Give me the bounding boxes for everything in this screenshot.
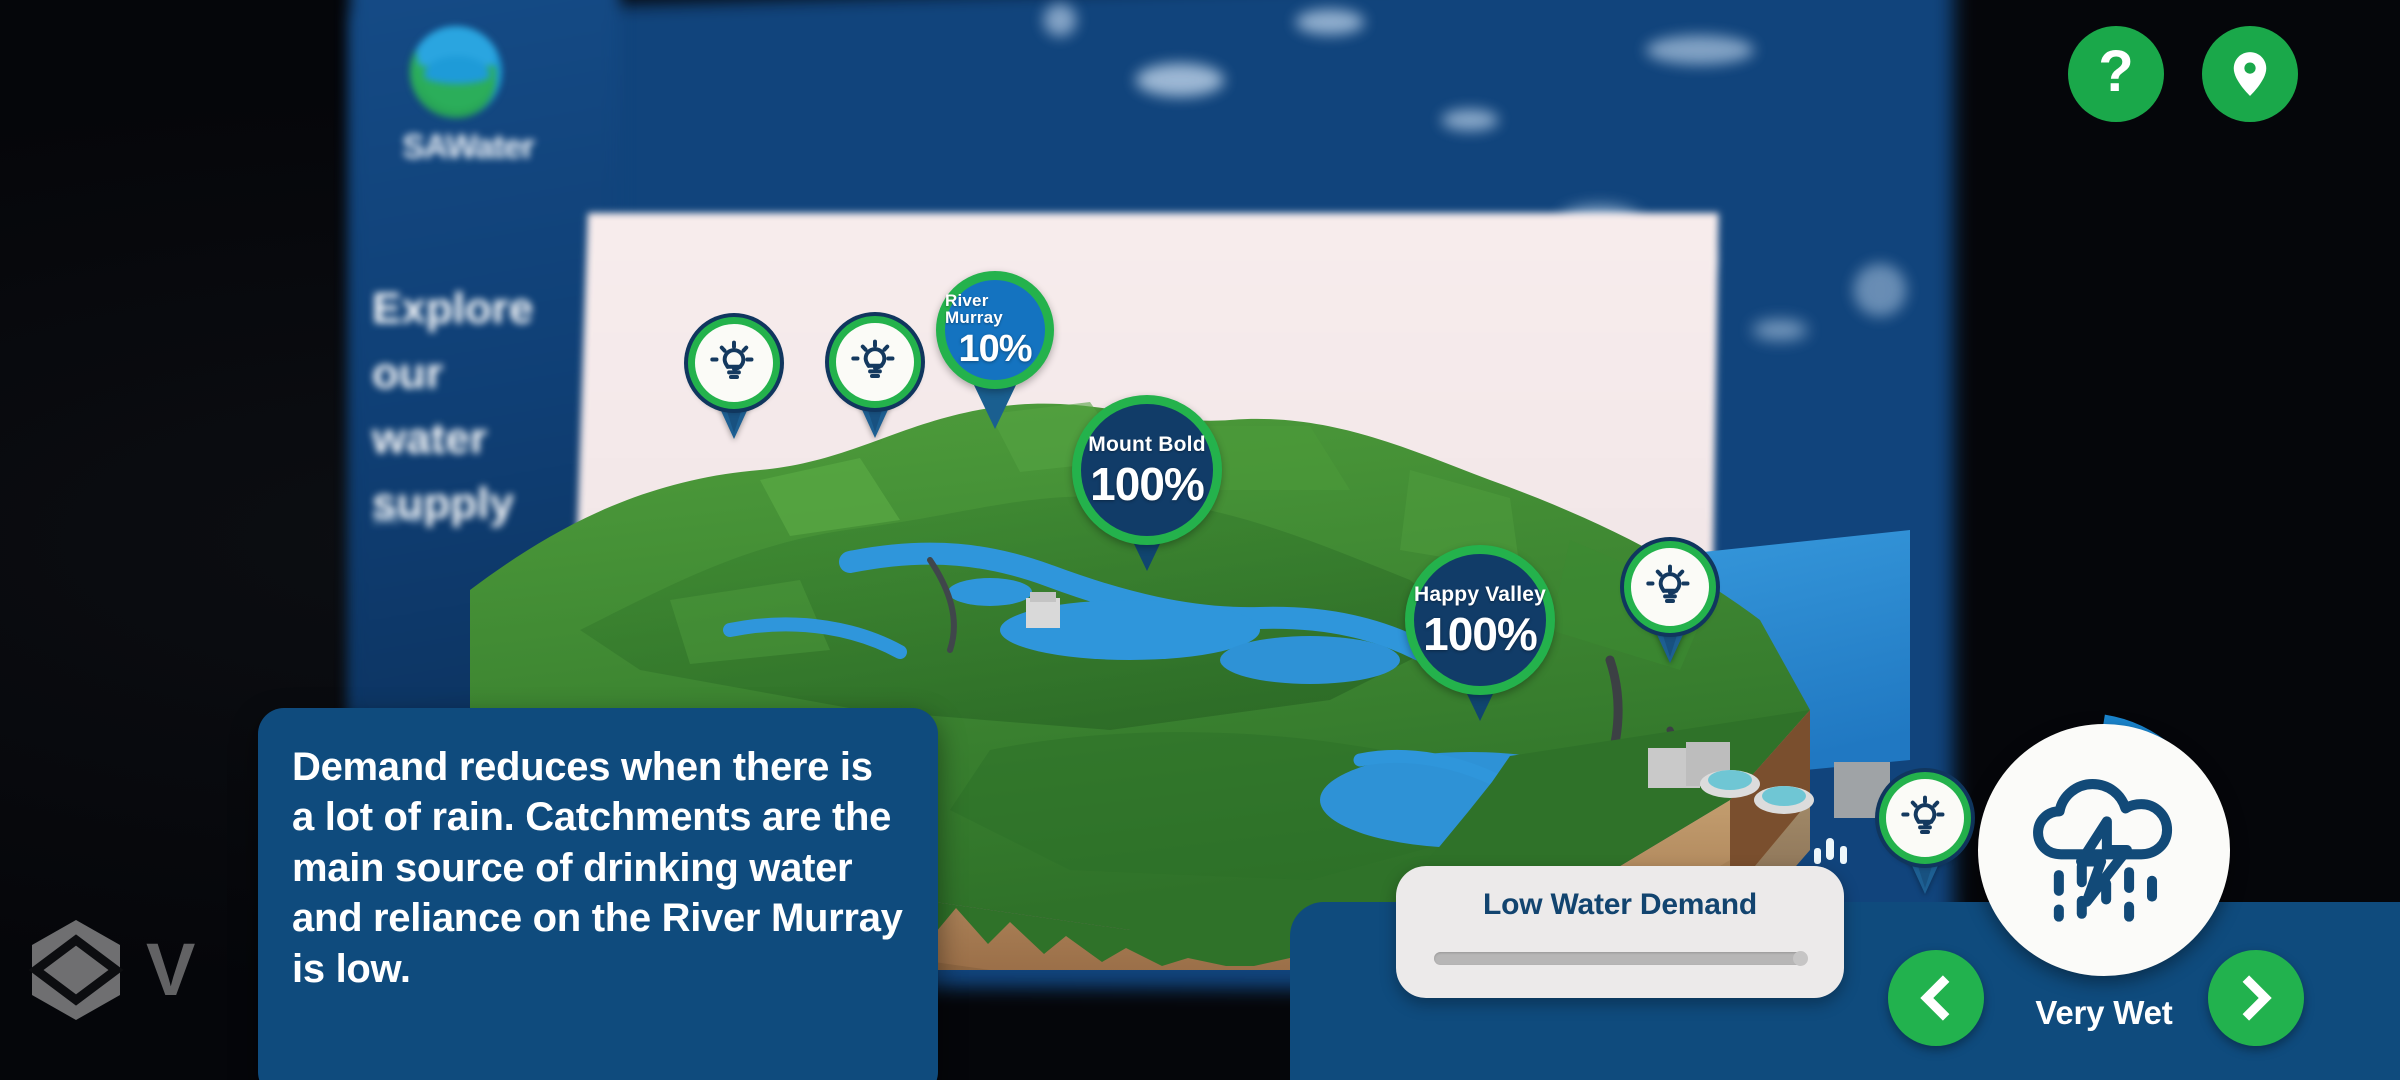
- mount-bold-pin[interactable]: Mount Bold 100%: [1072, 395, 1222, 545]
- slider-knob[interactable]: [1793, 951, 1808, 966]
- lightbulb-icon: [1642, 559, 1698, 615]
- question-mark-icon: ?: [2098, 43, 2133, 101]
- info-text-panel: Demand reduces when there is a lot of ra…: [258, 708, 938, 1080]
- lightbulb-icon: [1897, 790, 1953, 846]
- pin-value: 100%: [1090, 461, 1204, 507]
- pin-value: 100%: [1423, 611, 1537, 657]
- info-pin-2[interactable]: [829, 316, 921, 408]
- info-pin-3[interactable]: [1624, 541, 1716, 633]
- water-demand-label: Low Water Demand: [1483, 888, 1757, 922]
- pin-disc: Mount Bold 100%: [1072, 395, 1222, 545]
- watermark-letter: V: [146, 933, 195, 1007]
- weather-dial-face: [1978, 724, 2230, 976]
- pin-disc: River Murray 10%: [936, 271, 1054, 389]
- lightbulb-icon: [847, 334, 903, 390]
- weather-condition-dial[interactable]: [1968, 714, 2240, 986]
- river-murray-pin[interactable]: River Murray 10%: [936, 271, 1054, 389]
- help-button[interactable]: ?: [2068, 26, 2164, 122]
- thunderstorm-rain-cloud-icon: [2018, 764, 2190, 936]
- ar-sdk-watermark: V: [28, 918, 195, 1022]
- water-demand-slider[interactable]: [1434, 952, 1806, 965]
- lightbulb-icon: [706, 335, 762, 391]
- previous-scenario-button[interactable]: [1888, 950, 1984, 1046]
- info-panel-text: Demand reduces when there is a lot of ra…: [292, 742, 904, 994]
- map-pin-icon: [2225, 49, 2275, 99]
- pin-label: Happy Valley: [1414, 584, 1546, 605]
- next-scenario-button[interactable]: [2208, 950, 2304, 1046]
- pin-label: Mount Bold: [1088, 434, 1205, 455]
- hexagon-cube-logo-icon: [28, 918, 124, 1022]
- weather-condition-label: Very Wet: [1968, 994, 2240, 1032]
- sa-water-droplet-logo-icon: [410, 26, 502, 118]
- chevron-right-icon: [2233, 975, 2279, 1021]
- info-pin-4[interactable]: [1879, 772, 1971, 864]
- chevron-left-icon: [1913, 975, 1959, 1021]
- brand-name: SAWater: [378, 128, 558, 167]
- ar-camera-view: SAWater Explore our water supply 100 %: [0, 0, 2400, 1080]
- water-demand-control[interactable]: Low Water Demand: [1396, 866, 1844, 998]
- location-button[interactable]: [2202, 26, 2298, 122]
- info-pin-1[interactable]: [688, 317, 780, 409]
- pin-disc: Happy Valley 100%: [1405, 545, 1555, 695]
- happy-valley-pin[interactable]: Happy Valley 100%: [1405, 545, 1555, 695]
- pin-value: 10%: [958, 330, 1031, 368]
- pin-label: River Murray: [945, 292, 1045, 326]
